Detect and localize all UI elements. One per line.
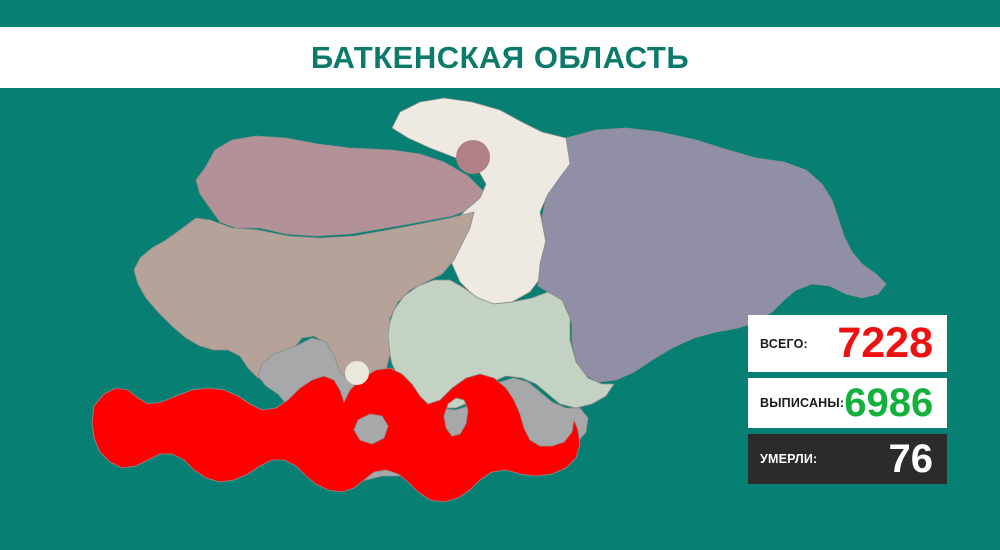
- stat-row-deaths: УМЕРЛИ: 76: [748, 434, 947, 484]
- stat-label-recovered: ВЫПИСАНЫ:: [760, 396, 844, 410]
- city-marker-osh[interactable]: [345, 361, 369, 385]
- stat-value-deaths: 76: [889, 439, 934, 479]
- statistics-panel: ВСЕГО: 7228 ВЫПИСАНЫ: 6986 УМЕРЛИ: 76: [748, 315, 947, 484]
- header-band: БАТКЕНСКАЯ ОБЛАСТЬ: [0, 27, 1000, 88]
- stat-value-recovered: 6986: [844, 383, 933, 423]
- stat-row-recovered: ВЫПИСАНЫ: 6986: [748, 378, 947, 428]
- page-title: БАТКЕНСКАЯ ОБЛАСТЬ: [311, 40, 689, 76]
- stat-row-total: ВСЕГО: 7228: [748, 315, 947, 372]
- infographic-canvas: БАТКЕНСКАЯ ОБЛАСТЬ ВСЕГО:: [0, 0, 1000, 550]
- stat-value-total: 7228: [837, 322, 933, 365]
- stat-label-deaths: УМЕРЛИ:: [760, 452, 817, 466]
- stat-label-total: ВСЕГО:: [760, 337, 808, 351]
- city-marker-bishkek[interactable]: [456, 140, 490, 174]
